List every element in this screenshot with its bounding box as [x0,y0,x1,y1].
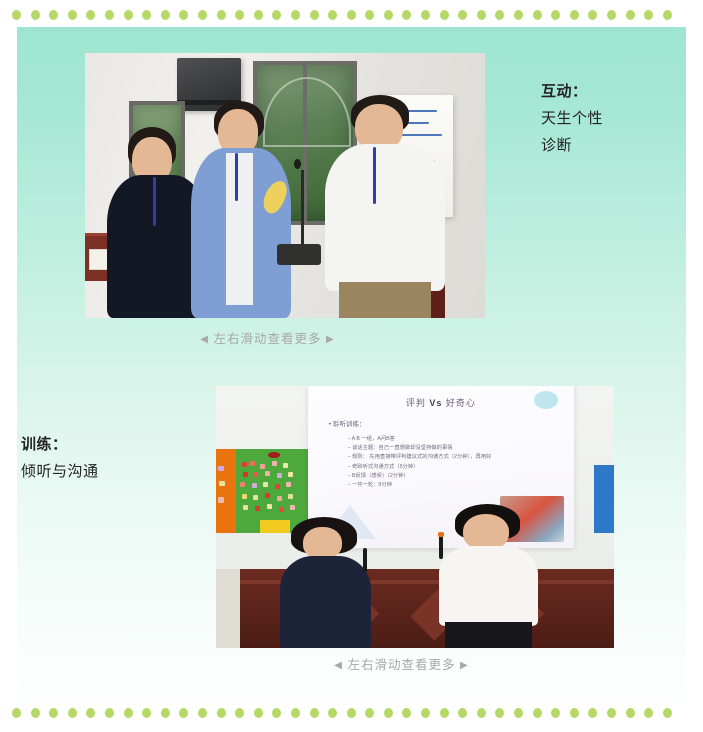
photo-training[interactable]: 评判 Vs 好奇心 • 聆听训练： A B 一组，A问B答 谈话主题：自己一直想… [216,386,614,648]
decor-dot [105,10,114,20]
decor-dot [644,708,653,718]
board-oval-label [268,452,281,458]
decor-dot [421,10,430,20]
decor-dot [272,708,281,718]
trousers [339,282,430,318]
decor-dot [588,708,597,718]
lanyard [235,153,238,201]
decor-dot [440,10,449,20]
decor-dot [570,10,579,20]
microphone-right [439,535,443,559]
slide-title-vs: Vs [429,398,442,408]
decor-dot [86,10,95,20]
microphone-head-icon [294,159,301,169]
slide-bullet: 规则： 先用直接带评判建议式的沟通方式（2分钟），再用好 [348,453,559,462]
decor-dot [402,708,411,718]
decor-dot [347,708,356,718]
decor-dot [328,10,337,20]
top-dotted-divider [0,8,703,22]
decor-dot [570,708,579,718]
decor-dot [179,708,188,718]
decor-dot [235,708,244,718]
decor-dot [384,10,393,20]
decor-dot [217,708,226,718]
decor-dot [12,708,21,718]
decor-dot [421,708,430,718]
decor-dot [161,708,170,718]
decor-dot [68,10,77,20]
decor-dot [68,708,77,718]
trousers [445,622,533,648]
decor-dot [179,10,188,20]
decor-dot [588,10,597,20]
inner-tee [226,153,253,305]
swipe-hint-interaction-text: 左右滑动查看更多 [213,332,321,346]
decor-dot [365,10,374,20]
decor-dot [142,708,151,718]
decor-dot [495,10,504,20]
decor-dot [235,10,244,20]
decor-dot [626,10,635,20]
decor-dot [31,708,40,718]
decor-dot [254,708,263,718]
slide-title: 评判 Vs 好奇心 [308,396,575,409]
torso [439,546,539,627]
swipe-hint-training: ◀ 左右滑动查看更多 ▶ [67,654,703,673]
decor-dot [161,10,170,20]
slide-title-suffix: 好奇心 [442,398,476,408]
slide-bullet: B反馈（感受）（2分钟） [348,472,559,481]
decor-dot [328,708,337,718]
decor-dot [477,708,486,718]
decor-dot [347,10,356,20]
slide-bullet-list: A B 一组，A问B答 谈话主题：自己一直想做却没坚持做的事情 规则： 先用直接… [348,435,559,491]
arrow-left-icon[interactable]: ◀ [334,660,343,671]
decor-dot [12,10,21,20]
arrow-left-icon[interactable]: ◀ [200,334,209,345]
decor-dot [365,708,374,718]
lanyard [373,147,376,205]
lanyard [153,177,156,227]
label-interaction-line-1: 天生个性 [541,105,603,132]
section-interaction: 互动： 天生个性 诊断 ◀ 左右滑动查看更多 ▶ [17,27,686,357]
decor-dot [105,708,114,718]
decor-dot [477,10,486,20]
person-white-polo [325,95,445,318]
decor-dot [458,10,467,20]
decor-dot [663,10,672,20]
label-interaction-head: 互动： [541,78,603,105]
decor-dot [533,10,542,20]
decor-dot [402,10,411,20]
slide-title-prefix: 评判 [406,398,430,408]
decor-dot [458,708,467,718]
photo-interaction-scene [85,53,485,318]
decor-dot [49,10,58,20]
swipe-hint-interaction: ◀ 左右滑动查看更多 ▶ [0,328,602,347]
decor-dot [607,708,616,718]
decor-dot [142,10,151,20]
decor-dot [495,708,504,718]
decor-dot [124,708,133,718]
label-interaction-line-2: 诊断 [541,132,603,159]
slide-subtitle: • 聆听训练： [329,418,366,428]
decor-dot [31,10,40,20]
decor-dot [217,10,226,20]
label-training-head: 训练： [21,431,99,458]
decor-dot [198,10,207,20]
person-seated-right [439,504,539,648]
microphone-left [363,548,367,572]
gallery-panel: 互动： 天生个性 诊断 ◀ 左右滑动查看更多 ▶ [17,27,686,701]
decor-dot [514,708,523,718]
slide-bullet: 奇聆听式沟通方式（5分钟） [348,463,559,472]
arrow-right-icon[interactable]: ▶ [326,334,335,345]
decor-dot [551,708,560,718]
swipe-hint-training-text: 左右滑动查看更多 [347,658,455,672]
label-training: 训练： 倾听与沟通 [21,431,99,485]
decor-dot [626,708,635,718]
section-training: 评判 Vs 好奇心 • 聆听训练： A B 一组，A问B答 谈话主题：自己一直想… [17,357,686,677]
arrow-right-icon[interactable]: ▶ [460,660,469,671]
decor-dot [291,708,300,718]
decor-dot [272,10,281,20]
slide-bullet: A B 一组，A问B答 [348,435,559,444]
decor-dot [86,708,95,718]
decor-dot [310,708,319,718]
head [303,527,341,558]
microphone-base [277,244,321,265]
decor-dot [644,10,653,20]
decor-dot [607,10,616,20]
person-seated-left [280,517,372,648]
decor-dot [440,708,449,718]
bottom-dotted-divider [0,706,703,720]
decor-dot [124,10,133,20]
right-blue-panel [594,465,614,533]
label-training-line-1: 倾听与沟通 [21,458,99,485]
decor-dot [663,708,672,718]
decor-dot [514,10,523,20]
decor-dot [310,10,319,20]
photo-training-scene: 评判 Vs 好奇心 • 聆听训练： A B 一组，A问B答 谈话主题：自己一直想… [216,386,614,648]
decor-dot [533,708,542,718]
microphone-stand [301,170,304,250]
slide-bullet: 一共一轮：9分钟 [348,481,559,490]
decor-dot [291,10,300,20]
photo-interaction[interactable] [85,53,485,318]
decor-dot [384,708,393,718]
decor-dot [254,10,263,20]
label-interaction: 互动： 天生个性 诊断 [541,78,603,159]
decor-dot [49,708,58,718]
decor-dot [198,708,207,718]
torso [280,556,372,648]
slide-bullet: 谈话主题：自己一直想做却没坚持做的事情 [348,444,559,453]
decor-dot [551,10,560,20]
torso [325,144,445,291]
head [463,514,509,550]
